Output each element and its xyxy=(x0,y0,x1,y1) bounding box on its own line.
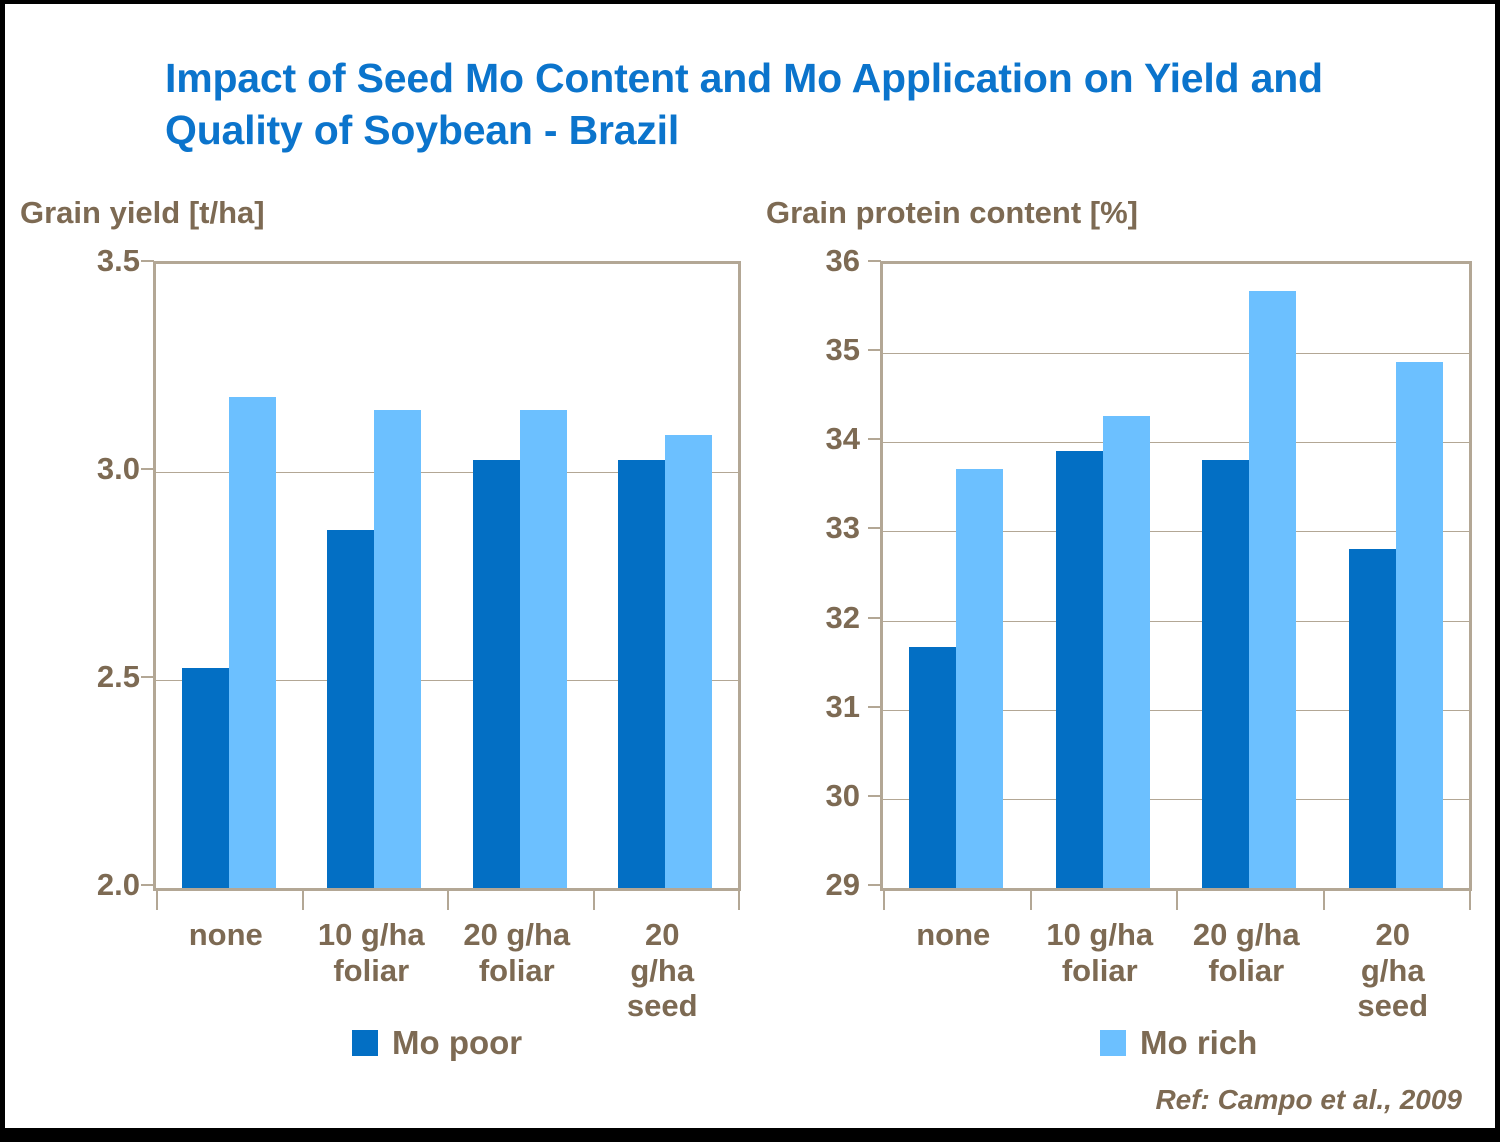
y-axis-tick-label: 31 xyxy=(788,689,860,725)
x-axis-label: 20 g/ha seed xyxy=(614,917,710,1024)
x-axis-separator xyxy=(156,888,158,910)
bar-mo-poor[interactable] xyxy=(1349,549,1396,888)
y-axis-tick-mark xyxy=(868,260,881,262)
y-axis-tick-label: 2.5 xyxy=(68,659,140,695)
y-axis-tick-mark xyxy=(141,884,154,886)
bar-mo-rich[interactable] xyxy=(520,410,567,888)
chart-panel-grain-protein: Grain protein content [%] 29303132333435… xyxy=(758,195,1498,1095)
x-axis-separator xyxy=(1323,888,1325,910)
legend-mo-poor: Mo poor xyxy=(352,1024,522,1062)
bar-mo-poor[interactable] xyxy=(182,668,229,888)
x-axis-label: 20 g/ha seed xyxy=(1340,917,1445,1024)
bar-group xyxy=(1176,264,1323,888)
y-axis-tick-label: 3.5 xyxy=(68,243,140,279)
y-axis-tick-mark xyxy=(868,349,881,351)
chart-title-grain-protein: Grain protein content [%] xyxy=(766,195,1138,231)
x-axis-separator xyxy=(447,888,449,910)
bar-mo-rich[interactable] xyxy=(374,410,421,888)
y-axis-tick-mark xyxy=(141,676,154,678)
y-axis-tick-label: 2.0 xyxy=(68,867,140,903)
legend-swatch-mo-rich-icon xyxy=(1100,1030,1126,1056)
y-axis-tick-mark xyxy=(141,468,154,470)
slide-canvas: Impact of Seed Mo Content and Mo Applica… xyxy=(0,0,1500,1142)
bar-mo-rich[interactable] xyxy=(956,469,1003,888)
y-axis-tick-label: 30 xyxy=(788,778,860,814)
plot-area-grain-protein xyxy=(880,261,1472,891)
bar-group xyxy=(156,264,302,888)
x-axis-separator xyxy=(1176,888,1178,910)
bar-mo-rich[interactable] xyxy=(1249,291,1296,888)
x-axis-separator xyxy=(883,888,885,910)
bar-mo-poor[interactable] xyxy=(1056,451,1103,888)
bar-mo-poor[interactable] xyxy=(909,647,956,888)
y-axis-tick-mark xyxy=(868,795,881,797)
y-axis-tick-label: 34 xyxy=(788,421,860,457)
frame-edge-bottom xyxy=(0,1128,1500,1142)
legend-label-mo-poor: Mo poor xyxy=(392,1024,522,1062)
y-axis-tick-mark xyxy=(868,617,881,619)
bar-mo-poor[interactable] xyxy=(473,460,520,888)
y-axis-tick-label: 29 xyxy=(788,867,860,903)
frame-edge-top xyxy=(0,0,1500,4)
y-axis-tick-mark xyxy=(141,260,154,262)
y-axis-tick-label: 3.0 xyxy=(68,451,140,487)
bar-mo-poor[interactable] xyxy=(327,530,374,888)
bar-mo-rich[interactable] xyxy=(229,397,276,888)
x-axis-separator xyxy=(593,888,595,910)
y-axis-tick-label: 33 xyxy=(788,510,860,546)
bar-group xyxy=(1030,264,1177,888)
bar-mo-poor[interactable] xyxy=(618,460,665,888)
reference-citation: Ref: Campo et al., 2009 xyxy=(1155,1084,1462,1116)
y-axis-tick-label: 32 xyxy=(788,600,860,636)
x-axis-label: 20 g/ha foliar xyxy=(1193,917,1300,988)
x-axis-separator xyxy=(1469,888,1471,910)
bar-group xyxy=(302,264,448,888)
x-axis-label: 10 g/ha foliar xyxy=(318,917,425,988)
x-axis-separator xyxy=(302,888,304,910)
x-axis-separator xyxy=(1030,888,1032,910)
plot-area-grain-yield xyxy=(153,261,741,891)
y-axis-tick-label: 35 xyxy=(788,332,860,368)
x-axis-label: 20 g/ha foliar xyxy=(463,917,570,988)
x-axis-label: 10 g/ha foliar xyxy=(1046,917,1153,988)
bar-mo-rich[interactable] xyxy=(665,435,712,888)
bar-mo-poor[interactable] xyxy=(1202,460,1249,888)
y-axis-tick-mark xyxy=(868,438,881,440)
frame-edge-left xyxy=(0,0,5,1142)
bar-mo-rich[interactable] xyxy=(1103,416,1150,888)
x-axis-label: none xyxy=(189,917,263,953)
x-axis-separator xyxy=(738,888,740,910)
y-axis-tick-mark xyxy=(868,884,881,886)
y-axis-tick-mark xyxy=(868,527,881,529)
legend-mo-rich: Mo rich xyxy=(1100,1024,1257,1062)
y-axis-tick-label: 36 xyxy=(788,243,860,279)
y-axis-tick-mark xyxy=(868,706,881,708)
chart-title-grain-yield: Grain yield [t/ha] xyxy=(20,195,265,231)
slide-title: Impact of Seed Mo Content and Mo Applica… xyxy=(165,52,1385,157)
bar-group xyxy=(593,264,739,888)
legend-label-mo-rich: Mo rich xyxy=(1140,1024,1257,1062)
x-axis-label: none xyxy=(916,917,990,953)
bar-group xyxy=(1323,264,1470,888)
chart-panel-grain-yield: Grain yield [t/ha] 2.02.53.03.5none10 g/… xyxy=(8,195,758,1095)
bar-mo-rich[interactable] xyxy=(1396,362,1443,888)
bar-group xyxy=(447,264,593,888)
legend-swatch-mo-poor-icon xyxy=(352,1030,378,1056)
bar-group xyxy=(883,264,1030,888)
